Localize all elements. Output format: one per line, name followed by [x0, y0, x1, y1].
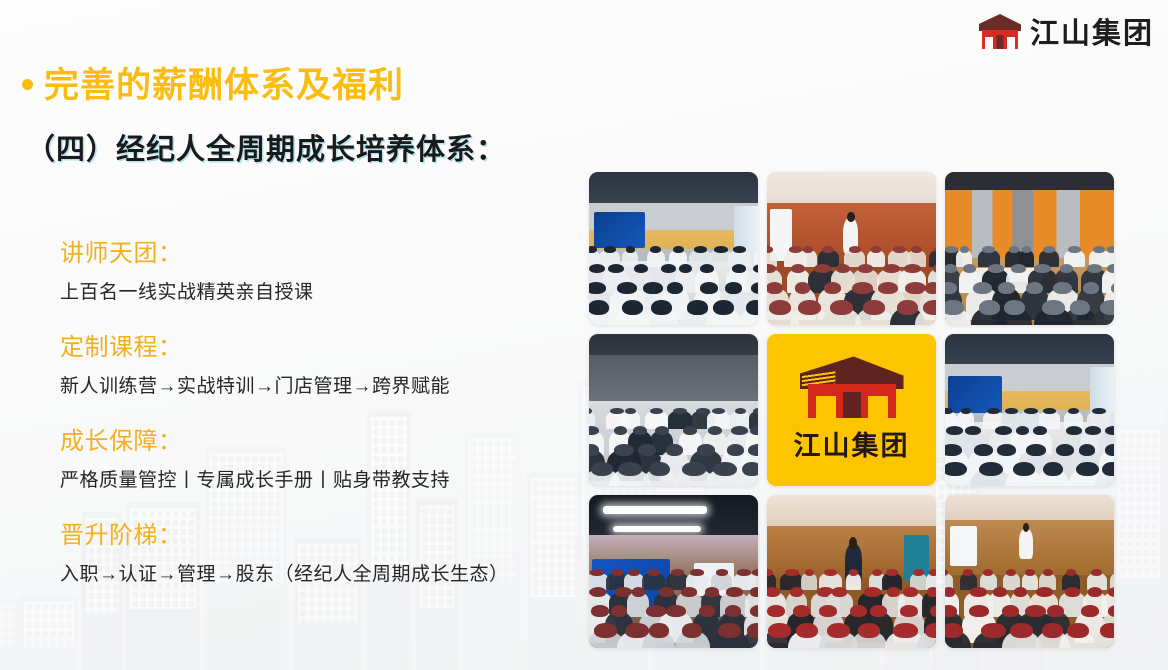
scene-speaker-head — [847, 212, 855, 223]
audience-person-head — [963, 264, 976, 273]
audience-person-head — [725, 605, 742, 617]
audience-person-head — [1070, 300, 1090, 315]
audience-person-head — [650, 246, 661, 253]
audience-person-head — [748, 444, 758, 456]
audience-person-head — [1088, 587, 1102, 596]
audience-person-head — [732, 264, 746, 273]
audience-person-head — [824, 282, 841, 294]
scene-participants — [945, 239, 1114, 324]
audience-person-head — [945, 246, 958, 253]
audience-person-head — [993, 587, 1007, 596]
audience-person-head — [1006, 569, 1016, 576]
audience-person-head — [791, 264, 805, 273]
audience-person-head — [1056, 444, 1074, 456]
audience-person-head — [1047, 605, 1064, 617]
audience-person-head — [1034, 264, 1051, 273]
brand-logo-tile: 江山集团 — [767, 334, 936, 487]
audience-person-head — [997, 444, 1017, 456]
audience-person-head — [927, 587, 936, 596]
audience-person-head — [767, 282, 783, 294]
content-block-heading: 定制课程： — [60, 327, 560, 362]
audience-person-head — [1100, 623, 1114, 638]
audience-person-head — [614, 444, 634, 456]
audience-person-head — [659, 587, 674, 596]
house-door-shape — [843, 392, 861, 418]
audience-person-head — [785, 569, 798, 576]
audience-person-head — [622, 300, 643, 315]
audience-person-head — [667, 282, 683, 294]
audience-person-head — [903, 587, 918, 596]
audience-person-head — [683, 426, 696, 435]
audience-person-head — [1022, 246, 1031, 253]
photo-tile-8 — [767, 495, 936, 648]
audience-person-head — [878, 282, 898, 294]
audience-person-head — [836, 264, 850, 273]
audience-person-head — [611, 569, 624, 576]
content-block-detail: 新人训练营→实战特训→门店管理→跨界赋能 — [60, 371, 560, 398]
audience-person-head — [687, 300, 709, 315]
scene-audience — [945, 563, 1114, 648]
audience-person-head — [1043, 246, 1055, 253]
audience-person-head — [961, 408, 971, 415]
audience-person-head — [983, 569, 993, 576]
audience-person-head — [1025, 605, 1046, 617]
audience-person-head — [911, 246, 922, 253]
photo-tile-1 — [589, 172, 758, 325]
audience-person-head — [887, 587, 901, 596]
audience-person-head — [858, 264, 874, 273]
audience-person-head — [925, 623, 936, 638]
audience-person-head — [700, 264, 714, 273]
audience-person-head — [746, 300, 758, 315]
audience-person-head — [655, 426, 669, 435]
audience-person-head — [1068, 246, 1081, 253]
audience-person-head — [750, 426, 758, 435]
audience-person-head — [611, 605, 627, 617]
audience-person-head — [929, 569, 936, 576]
scene-speaker — [1019, 529, 1033, 560]
audience-person-head — [1092, 408, 1106, 415]
audience-person-head — [945, 623, 963, 638]
audience-person-head — [671, 569, 684, 576]
audience-person-head — [769, 300, 792, 315]
audience-person-head — [1009, 246, 1020, 253]
audience-person-head — [690, 569, 703, 576]
audience-person-head — [1079, 444, 1095, 456]
audience-person-head — [1016, 426, 1029, 435]
city-building-shape — [0, 599, 20, 670]
photo-tile-6 — [945, 334, 1114, 487]
audience-person-head — [673, 246, 684, 253]
main-title: 完善的薪酬体系及福利 — [22, 57, 404, 108]
audience-person-head — [628, 569, 640, 576]
brand-logo: 江山集团 — [979, 10, 1154, 52]
audience-person-head — [589, 264, 605, 273]
audience-person-head — [1093, 246, 1105, 253]
audience-person-head — [946, 426, 964, 435]
brand-name-text-large: 江山集团 — [794, 424, 910, 463]
audience-person-head — [945, 282, 957, 294]
audience-person-head — [998, 282, 1015, 294]
audience-person-head — [1076, 462, 1098, 477]
audience-person-head — [1100, 300, 1114, 315]
audience-person-head — [1087, 264, 1103, 273]
audience-person-head — [608, 264, 624, 273]
audience-person-head — [731, 426, 747, 435]
audience-person-head — [682, 623, 703, 638]
audience-person-head — [1036, 587, 1053, 596]
audience-person-head — [832, 587, 848, 596]
scene-audience — [767, 563, 936, 648]
audience-person-head — [617, 282, 637, 294]
audience-person-head — [742, 462, 758, 477]
audience-person-head — [1085, 426, 1100, 435]
audience-person-head — [1002, 605, 1019, 617]
audience-person-head — [925, 282, 936, 294]
audience-person-head — [893, 623, 917, 638]
house-roof-shape — [979, 14, 1021, 31]
audience-person-head — [1105, 426, 1114, 435]
city-building-shape — [1164, 410, 1168, 670]
scene-audience — [945, 401, 1114, 486]
audience-person-head — [945, 462, 967, 477]
audience-person-head — [974, 444, 993, 456]
audience-person-head — [1107, 246, 1114, 253]
audience-person-head — [589, 246, 597, 253]
scene-group-people — [589, 401, 758, 486]
audience-person-head — [1066, 426, 1082, 435]
audience-person-head — [793, 605, 810, 617]
content-block-heading: 晋升阶梯： — [60, 515, 560, 550]
photo-grid: 江山集团 — [589, 172, 1114, 648]
audience-person-head — [591, 605, 610, 617]
audience-person-head — [725, 282, 741, 294]
audience-person-head — [1105, 444, 1114, 456]
house-door-shape — [996, 35, 1003, 49]
audience-person-head — [1042, 623, 1062, 638]
page-subtitle: （四）经纪人全周期成长培养体系： — [26, 126, 506, 168]
audience-person-head — [682, 462, 707, 477]
audience-person-head — [1026, 282, 1043, 294]
audience-person-head — [733, 246, 746, 253]
audience-person-head — [872, 569, 882, 576]
audience-person-head — [849, 569, 858, 576]
content-block-heading: 讲师天团： — [60, 233, 560, 268]
audience-person-head — [727, 444, 744, 456]
audience-person-head — [591, 462, 614, 477]
audience-person-head — [1065, 587, 1081, 596]
content-block-heading: 成长保障： — [60, 421, 560, 456]
audience-person-head — [661, 264, 676, 273]
audience-person-head — [945, 300, 964, 315]
audience-person-head — [979, 462, 1003, 477]
audience-person-head — [850, 605, 867, 617]
audience-person-head — [673, 408, 687, 415]
house-logo-icon-large — [800, 356, 904, 418]
audience-person-head — [1081, 605, 1099, 617]
audience-person-head — [589, 444, 599, 456]
audience-person-head — [1102, 462, 1114, 477]
audience-person-head — [995, 426, 1012, 435]
audience-person-head — [633, 426, 647, 435]
audience-person-head — [969, 605, 989, 617]
audience-person-head — [768, 623, 791, 638]
audience-person-head — [750, 587, 758, 596]
audience-person-head — [1043, 569, 1053, 576]
content-block-detail: 上百名一线实战精英亲自授课 — [60, 277, 560, 304]
audience-person-head — [973, 282, 992, 294]
audience-person-head — [858, 623, 879, 638]
audience-person-head — [1010, 623, 1033, 638]
audience-person-head — [827, 623, 850, 638]
audience-person-head — [713, 462, 736, 477]
audience-person-head — [666, 444, 683, 456]
audience-person-head — [803, 246, 813, 253]
audience-person-head — [589, 300, 609, 315]
audience-person-head — [614, 426, 627, 435]
audience-person-head — [718, 623, 741, 638]
audience-person-head — [767, 569, 773, 576]
audience-person-head — [649, 623, 669, 638]
photo-tile-7 — [589, 495, 758, 648]
audience-person-head — [1067, 623, 1089, 638]
audience-person-head — [767, 587, 780, 596]
audience-person-head — [714, 246, 728, 253]
audience-person-head — [666, 605, 686, 617]
audience-person-head — [590, 569, 604, 576]
audience-person-head — [945, 587, 955, 596]
audience-person-head — [963, 569, 973, 576]
audience-person-head — [651, 300, 672, 315]
audience-person-head — [638, 444, 656, 456]
audience-person-head — [708, 426, 722, 435]
scene-ceiling-light — [613, 526, 701, 532]
audience-person-head — [681, 587, 697, 596]
audience-person-head — [694, 246, 707, 253]
audience-person-head — [1025, 569, 1035, 576]
audience-person-head — [923, 300, 936, 315]
audience-person-head — [726, 587, 743, 596]
audience-person-head — [1014, 587, 1027, 596]
audience-person-head — [618, 462, 643, 477]
audience-person-head — [751, 282, 758, 294]
bullet-dot-icon — [22, 79, 33, 90]
audience-person-head — [697, 444, 715, 456]
audience-person-head — [981, 623, 1005, 638]
audience-person-head — [700, 282, 718, 294]
content-block: 成长保障： 严格质量管控丨专属成长手册丨贴身带教支持 — [60, 421, 560, 492]
audience-person-head — [1107, 264, 1114, 273]
scene-ceiling-light — [603, 506, 708, 514]
audience-person-head — [1033, 426, 1047, 435]
content-block: 定制课程： 新人训练营→实战特训→门店管理→跨界赋能 — [60, 327, 560, 398]
audience-person-head — [789, 246, 802, 253]
audience-person-head — [852, 282, 873, 294]
content-block: 讲师天团： 上百名一线实战精英亲自授课 — [60, 233, 560, 304]
audience-person-head — [750, 605, 758, 617]
audience-person-head — [1083, 282, 1099, 294]
audience-person-head — [945, 444, 962, 456]
audience-person-head — [1042, 300, 1065, 315]
main-title-text: 完善的薪酬体系及福利 — [44, 57, 404, 108]
audience-person-head — [864, 587, 881, 596]
audience-person-head — [716, 569, 728, 576]
audience-person-head — [798, 300, 821, 315]
audience-person-head — [965, 426, 981, 435]
slide-canvas: 江山集团 完善的薪酬体系及福利 （四）经纪人全周期成长培养体系： 讲师天团： 上… — [0, 0, 1168, 670]
audience-person-head — [883, 264, 900, 273]
audience-person-head — [1066, 569, 1076, 576]
audience-person-head — [1068, 408, 1079, 415]
audience-person-head — [805, 569, 814, 576]
content-block-detail: 严格质量管控丨专属成长手册丨贴身带教支持 — [60, 465, 560, 492]
audience-person-head — [819, 605, 837, 617]
audience-person-head — [988, 264, 1004, 273]
audience-person-head — [795, 282, 811, 294]
photo-tile-4 — [589, 334, 758, 487]
scene-audience — [589, 563, 758, 648]
city-building-shape — [1113, 424, 1164, 670]
audience-person-head — [893, 246, 906, 253]
audience-person-head — [679, 264, 691, 273]
audience-person-head — [590, 587, 606, 596]
audience-person-head — [705, 587, 718, 596]
audience-person-head — [1005, 408, 1017, 415]
audience-person-head — [767, 605, 785, 617]
photo-tile-3 — [945, 172, 1114, 325]
audience-person-head — [1004, 300, 1025, 315]
audience-person-head — [589, 282, 606, 294]
audience-person-head — [871, 246, 882, 253]
audience-person-head — [904, 264, 921, 273]
audience-person-head — [830, 300, 853, 315]
audience-person-head — [632, 587, 645, 596]
audience-person-head — [594, 623, 617, 638]
audience-person-head — [970, 587, 987, 596]
photo-tile-2 — [767, 172, 936, 325]
audience-person-head — [647, 569, 660, 576]
audience-person-head — [987, 408, 1000, 415]
audience-person-head — [1091, 569, 1102, 576]
audience-person-head — [626, 246, 635, 253]
content-block-list: 讲师天团： 上百名一线实战精英亲自授课 定制课程： 新人训练营→实战特训→门店管… — [60, 233, 560, 586]
scene-wall — [589, 355, 758, 407]
photo-tile-9 — [945, 495, 1114, 648]
audience-person-head — [699, 605, 715, 617]
audience-person-head — [796, 623, 818, 638]
audience-person-head — [1043, 462, 1063, 477]
audience-person-head — [913, 569, 923, 576]
audience-person-head — [634, 264, 648, 273]
audience-person-head — [870, 605, 887, 617]
audience-person-head — [849, 246, 861, 253]
audience-person-head — [886, 569, 897, 576]
audience-person-head — [960, 246, 969, 253]
audience-person-head — [1024, 408, 1038, 415]
audience-person-head — [897, 300, 918, 315]
audience-person-head — [982, 246, 995, 253]
audience-person-head — [979, 300, 1000, 315]
audience-person-head — [824, 569, 837, 576]
audience-person-head — [790, 587, 803, 596]
audience-person-head — [934, 246, 936, 253]
audience-person-head — [1053, 282, 1072, 294]
house-logo-icon — [979, 13, 1021, 49]
audience-person-head — [900, 605, 918, 617]
audience-person-head — [1060, 264, 1073, 273]
brand-name-text: 江山集团 — [1030, 10, 1154, 52]
audience-person-head — [814, 264, 831, 273]
audience-person-head — [1026, 444, 1045, 456]
content-block-detail: 入职→认证→管理→股东（经纪人全周期成长生态） — [60, 559, 560, 586]
city-building-shape — [20, 595, 78, 670]
audience-person-head — [822, 246, 834, 253]
audience-person-head — [747, 623, 758, 638]
audience-person-head — [945, 264, 957, 273]
audience-person-head — [649, 462, 669, 477]
scene-audience — [589, 239, 758, 324]
content-block: 晋升阶梯： 入职→认证→管理→股东（经纪人全周期成长生态） — [60, 515, 560, 586]
scene-whiteboard — [950, 526, 977, 566]
scene-audience — [767, 239, 936, 324]
audience-person-head — [863, 300, 885, 315]
audience-person-head — [604, 246, 616, 253]
audience-person-head — [1013, 462, 1036, 477]
audience-person-head — [1108, 587, 1114, 596]
audience-person-head — [713, 300, 734, 315]
audience-person-head — [643, 282, 662, 294]
audience-person-head — [767, 246, 773, 253]
audience-person-head — [752, 569, 758, 576]
